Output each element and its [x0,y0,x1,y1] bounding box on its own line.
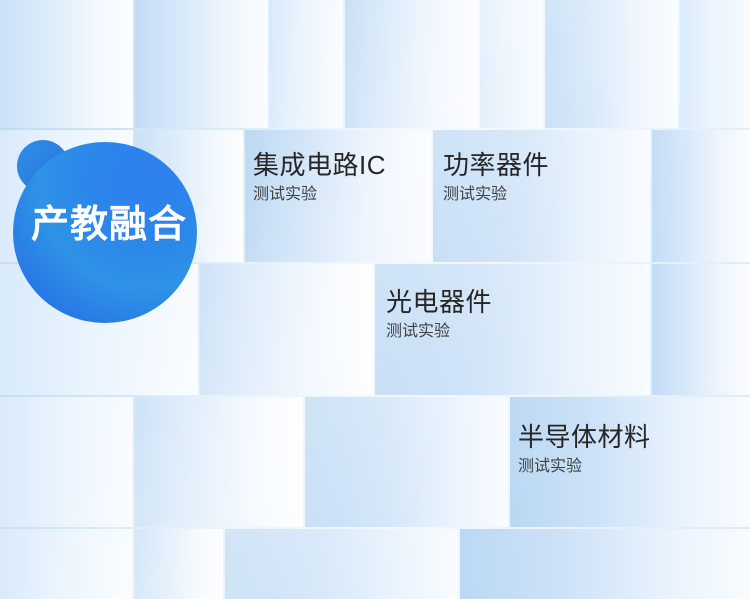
card-title: 功率器件 [443,152,549,178]
bg-tile [270,0,343,128]
card-subtitle: 测试实验 [443,187,549,203]
card-semiconductor-material[interactable]: 半导体材料 测试实验 [518,424,651,475]
bg-tile [135,529,223,599]
card-subtitle: 测试实验 [253,187,386,203]
card-power-device[interactable]: 功率器件 测试实验 [443,152,549,203]
card-subtitle: 测试实验 [386,324,492,340]
badge-label: 产教融合 [20,206,198,244]
card-ic[interactable]: 集成电路IC 测试实验 [253,152,386,203]
bg-tile [200,264,373,395]
bg-tile [652,264,750,395]
card-title: 光电器件 [386,289,492,315]
bg-tile [680,0,750,128]
bg-tile [0,529,133,599]
bg-tile [135,397,303,527]
bg-tile [0,0,133,128]
bg-tile [225,529,458,599]
promo-banner: 产教融合 集成电路IC 测试实验 功率器件 测试实验 光电器件 测试实验 半导体… [0,0,750,599]
card-optoelectronic-device[interactable]: 光电器件 测试实验 [386,289,492,340]
fusion-badge: 产教融合 [0,130,220,340]
bg-tile [545,0,678,128]
card-subtitle: 测试实验 [518,459,651,475]
bg-tile [652,130,750,262]
bg-tile [480,0,543,128]
bg-tile [135,0,268,128]
bg-tile [460,529,750,599]
bg-tile [305,397,508,527]
bg-tile [345,0,478,128]
card-title: 半导体材料 [518,424,651,450]
card-title: 集成电路IC [253,152,386,178]
bg-tile [0,397,133,527]
